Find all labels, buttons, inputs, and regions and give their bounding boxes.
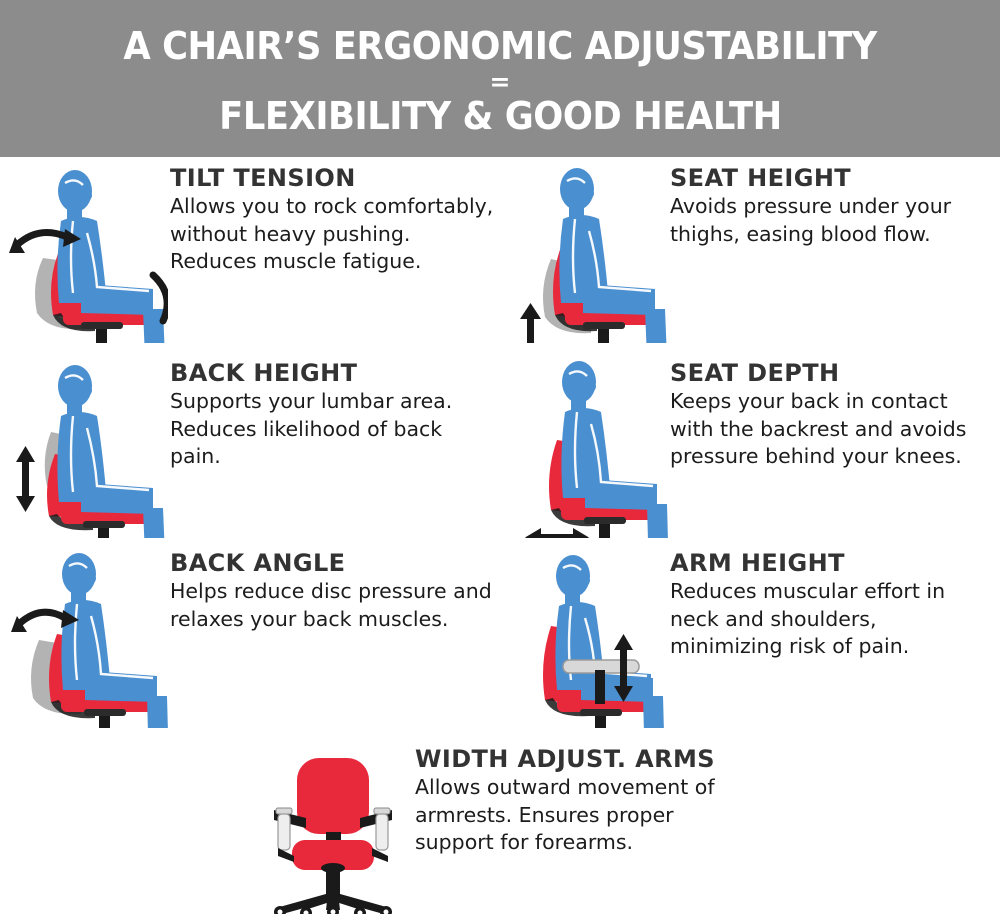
feature-description: Avoids pressure under your thighs, easin… [670, 193, 994, 248]
illustration-tilt-tension [0, 157, 170, 343]
horizontal-double-arrow-seat-icon [525, 528, 589, 538]
feature-arm-height: ARM HEIGHT Reduces muscular effort in ne… [500, 542, 1000, 732]
feature-description: Allows you to rock comfortably, without … [170, 193, 494, 275]
feature-text-arm-height: ARM HEIGHT Reduces muscular effort in ne… [670, 542, 1000, 660]
infographic-header: A CHAIR’S ERGONOMIC ADJUSTABILITY = FLEX… [0, 0, 1000, 157]
header-title-line-2: FLEXIBILITY & GOOD HEALTH [219, 97, 782, 135]
feature-heading: SEAT HEIGHT [670, 165, 994, 191]
feature-text-back-height: BACK HEIGHT Supports your lumbar area. R… [170, 352, 500, 470]
backrest-icon [297, 758, 369, 834]
feature-text-seat-depth: SEAT DEPTH Keeps your back in contact wi… [670, 352, 1000, 470]
feature-heading: WIDTH ADJUST. ARMS [415, 746, 739, 772]
header-equals-sign: = [490, 69, 511, 94]
features-row-2: BACK HEIGHT Supports your lumbar area. R… [0, 352, 1000, 542]
illustration-back-angle [0, 542, 170, 728]
feature-heading: SEAT DEPTH [670, 360, 994, 386]
illustration-seat-depth [500, 352, 670, 538]
curved-arrow-backrest-icon [19, 612, 65, 624]
feature-heading: TILT TENSION [170, 165, 494, 191]
feature-heading: ARM HEIGHT [670, 550, 994, 576]
features-row-1: TILT TENSION Allows you to rock comforta… [0, 157, 1000, 352]
feature-back-height: BACK HEIGHT Supports your lumbar area. R… [0, 352, 500, 542]
illustration-back-height [0, 352, 170, 538]
illustration-arm-height [500, 542, 670, 728]
header-title-line-1: A CHAIR’S ERGONOMIC ADJUSTABILITY [123, 27, 876, 65]
features-grid: TILT TENSION Allows you to rock comforta… [0, 157, 1000, 914]
feature-heading: BACK ANGLE [170, 550, 494, 576]
feature-description: Allows outward movement of armrests. Ens… [415, 774, 739, 856]
feature-description: Helps reduce disc pressure and relaxes y… [170, 578, 494, 633]
feature-tilt-tension: TILT TENSION Allows you to rock comforta… [0, 157, 500, 352]
feature-seat-depth: SEAT DEPTH Keeps your back in contact wi… [500, 352, 1000, 542]
vertical-double-arrow-seat-icon [520, 303, 541, 343]
feature-heading: BACK HEIGHT [170, 360, 494, 386]
illustration-width-adjust-arms [255, 738, 415, 914]
feature-text-width-adjust-arms: WIDTH ADJUST. ARMS Allows outward moveme… [415, 738, 745, 856]
feature-text-back-angle: BACK ANGLE Helps reduce disc pressure an… [170, 542, 500, 633]
feature-description: Reduces muscular effort in neck and shou… [670, 578, 994, 660]
feature-seat-height: SEAT HEIGHT Avoids pressure under your t… [500, 157, 1000, 352]
feature-text-seat-height: SEAT HEIGHT Avoids pressure under your t… [670, 157, 1000, 248]
feature-description: Supports your lumbar area. Reduces likel… [170, 388, 494, 470]
features-row-3: BACK ANGLE Helps reduce disc pressure an… [0, 542, 1000, 732]
feature-back-angle: BACK ANGLE Helps reduce disc pressure an… [0, 542, 500, 732]
vertical-double-arrow-backrest-icon [16, 446, 35, 512]
feature-width-adjust-arms: WIDTH ADJUST. ARMS Allows outward moveme… [0, 738, 1000, 914]
illustration-seat-height [500, 157, 670, 343]
feature-description: Keeps your back in contact with the back… [670, 388, 994, 470]
feature-text-tilt-tension: TILT TENSION Allows you to rock comforta… [170, 157, 500, 275]
